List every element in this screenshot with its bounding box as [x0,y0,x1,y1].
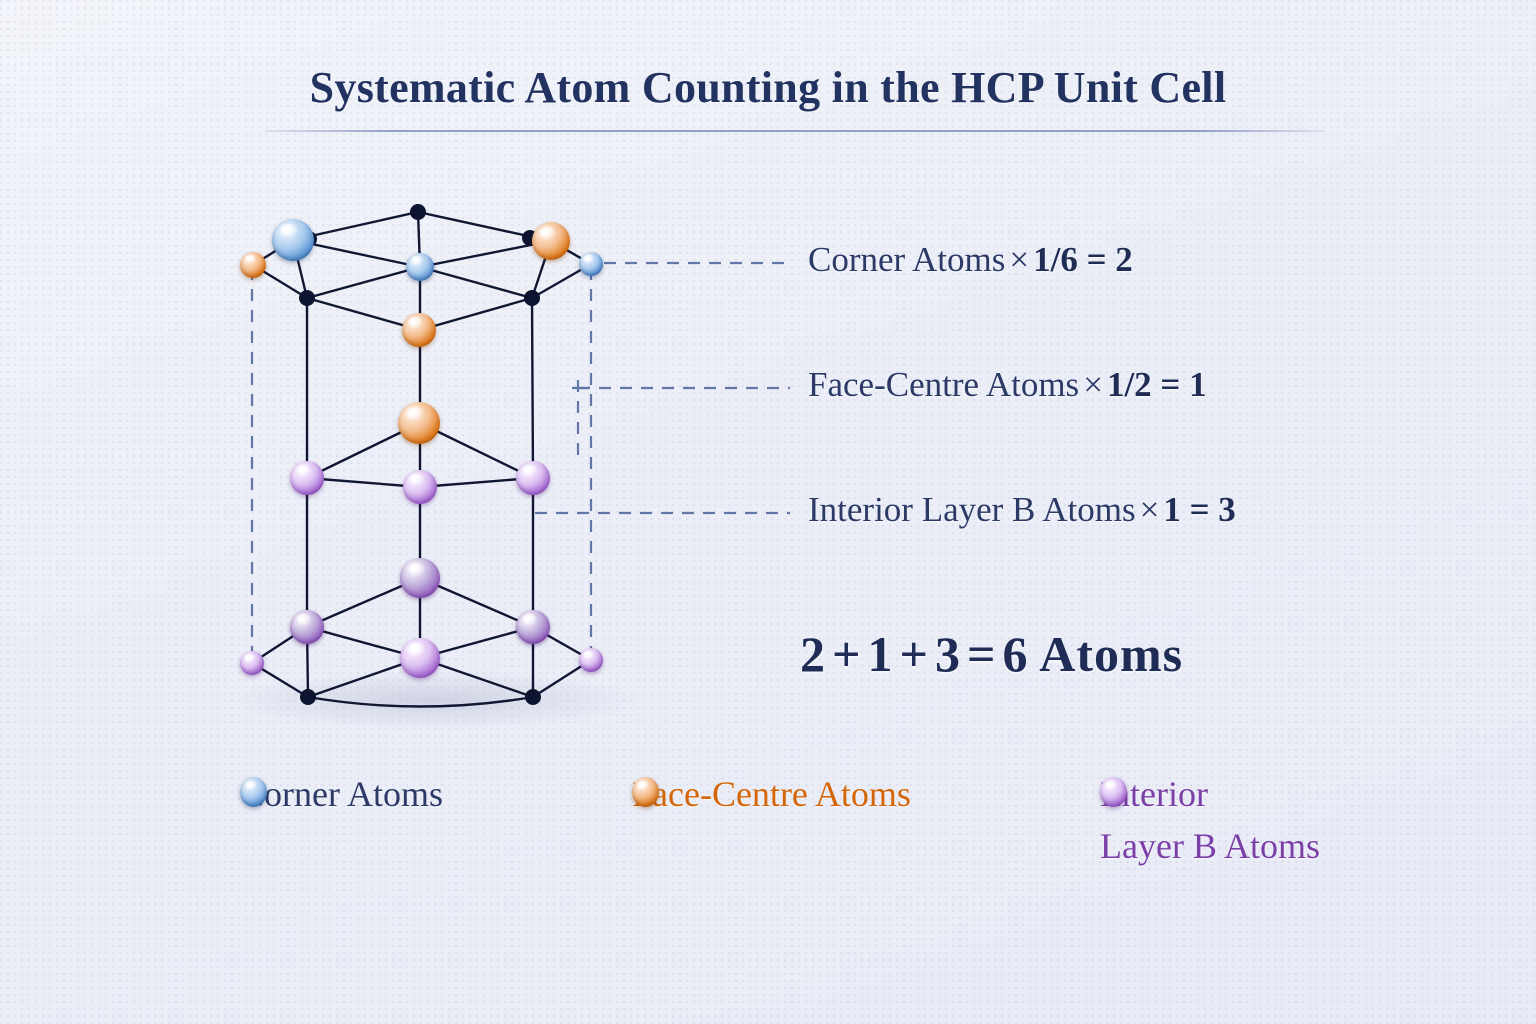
sphere-icon [240,777,267,807]
total-result: 6 Atoms [1003,626,1184,682]
legend: Corner Atoms Face-Centre Atoms Interior … [240,768,1490,898]
atom-interior [516,610,550,644]
total-term-c: 3 [935,626,961,682]
atom-corner [406,253,434,281]
total-term-b: 1 [868,626,894,682]
atom-interior [240,651,264,675]
atom-corner [272,219,314,261]
atom-face [240,252,266,278]
legend-label-interior: Interior Layer B Atoms [1100,768,1320,872]
total-plus-1: + [826,626,868,682]
annotation-face-times: × [1079,365,1107,404]
sphere-icon [632,777,659,807]
annotation-interior-atoms: Interior Layer B Atoms×1 = 3 [808,490,1236,530]
legend-item-face-centre-atoms: Face-Centre Atoms [632,768,911,820]
annotation-face-centre-atoms: Face-Centre Atoms×1/2 = 1 [808,365,1207,405]
annotation-face-value: 1/2 = 1 [1107,365,1207,404]
annotation-corner-value: 1/6 = 2 [1033,240,1133,279]
atom-face [532,222,570,260]
atom-interior [400,638,440,678]
atom-interior [290,461,324,495]
annotation-interior-label: Interior Layer B Atoms [808,490,1136,529]
atom-interior [290,610,324,644]
legend-label-face: Face-Centre Atoms [632,768,911,820]
legend-item-corner-atoms: Corner Atoms [240,768,443,820]
legend-label-corner: Corner Atoms [240,768,443,820]
annotation-corner-atoms: Corner Atoms×1/6 = 2 [808,240,1133,280]
total-atoms-equation: 2+1+3=6 Atoms [800,625,1183,683]
atom-interior [516,461,550,495]
atom-interior [579,648,603,672]
legend-item-interior-atoms: Interior Layer B Atoms [1100,768,1320,872]
total-term-a: 2 [800,626,826,682]
atom-interior [403,470,437,504]
annotation-face-label: Face-Centre Atoms [808,365,1079,404]
diagram-canvas: Systematic Atom Counting in the HCP Unit… [0,0,1536,1024]
atom-corner [579,252,603,276]
atom-face [402,313,436,347]
annotation-interior-times: × [1136,490,1164,529]
sphere-icon [1100,777,1127,807]
annotation-corner-times: × [1005,240,1033,279]
annotation-interior-value: 1 = 3 [1163,490,1235,529]
ground-shadow [222,670,642,730]
total-plus-2: + [894,626,936,682]
atom-face [398,402,440,444]
atom-interior [400,558,440,598]
annotation-corner-label: Corner Atoms [808,240,1005,279]
leader-lines [252,263,790,660]
total-equals: = [961,626,1003,682]
